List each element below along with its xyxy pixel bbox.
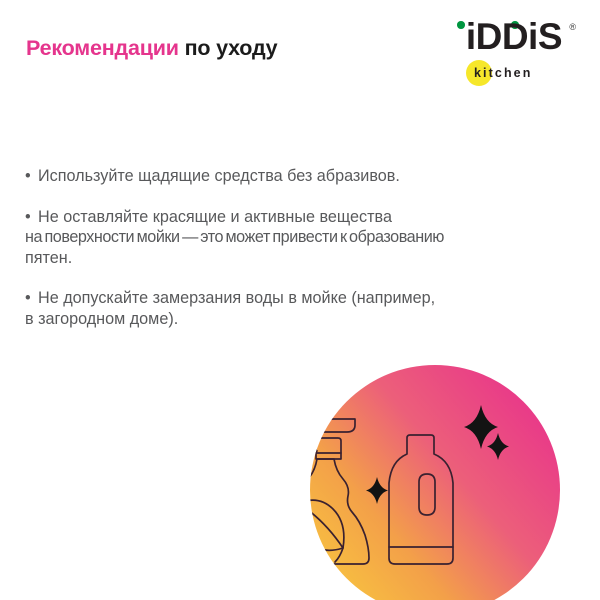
list-item-text: Не оставляйте красящие и активные вещест… bbox=[38, 207, 580, 269]
logo-sub-label-group: kitchen bbox=[466, 60, 532, 86]
list-item: • Не оставляйте красящие и активные веще… bbox=[25, 207, 580, 269]
list-item-text: Используйте щадящие средства без абразив… bbox=[38, 166, 580, 187]
list-item-line: Используйте щадящие средства без абразив… bbox=[38, 166, 580, 187]
registered-trademark-icon: ® bbox=[569, 22, 576, 32]
list-item-line: на поверхности мойки — это может привест… bbox=[25, 227, 580, 248]
page-title-rest: по уходу bbox=[179, 36, 278, 60]
logo-wordmark: iDDiS bbox=[466, 18, 562, 55]
care-recommendations-slide: Рекомендации по уходу iDDiS ® kitchen • … bbox=[0, 0, 600, 600]
logo-dot-green-icon bbox=[457, 21, 465, 29]
list-item-line: в загородном доме). bbox=[25, 309, 580, 330]
list-item: • Используйте щадящие средства без абраз… bbox=[25, 166, 580, 187]
bullet-marker-icon: • bbox=[25, 207, 38, 228]
recommendation-list: • Используйте щадящие средства без абраз… bbox=[25, 166, 580, 329]
cleaning-products-illustration bbox=[255, 355, 600, 600]
page-title-accent: Рекомендации bbox=[26, 36, 179, 60]
logo-sub-label: kitchen bbox=[474, 66, 532, 80]
page-title: Рекомендации по уходу bbox=[26, 36, 277, 61]
list-item-line: пятен. bbox=[25, 248, 580, 269]
list-item-text: Не допускайте замерзания воды в мойке (н… bbox=[38, 288, 580, 329]
brand-logo: iDDiS ® kitchen bbox=[438, 18, 578, 90]
list-item: • Не допускайте замерзания воды в мойке … bbox=[25, 288, 580, 329]
bullet-marker-icon: • bbox=[25, 166, 38, 187]
list-item-line: Не оставляйте красящие и активные вещест… bbox=[38, 207, 580, 228]
list-item-line: Не допускайте замерзания воды в мойке (н… bbox=[38, 288, 580, 309]
bullet-marker-icon: • bbox=[25, 288, 38, 309]
